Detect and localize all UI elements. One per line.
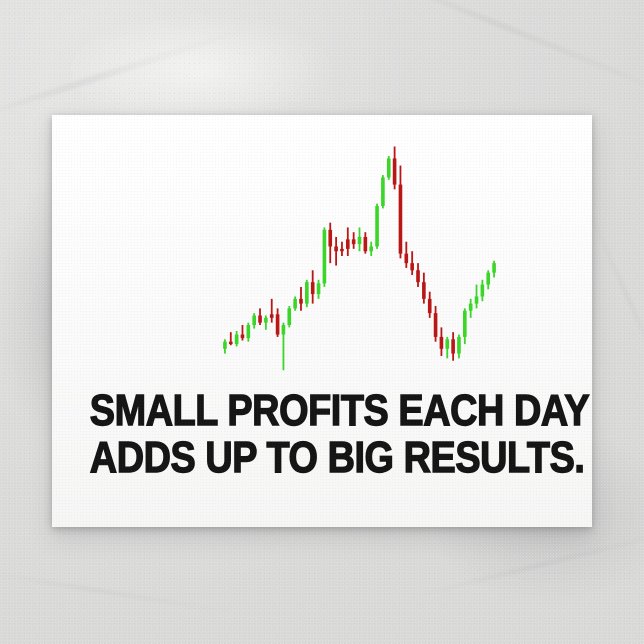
candle-body [422,282,426,299]
candle-body [229,342,233,344]
candle-body [434,313,438,337]
candle-body [323,230,327,284]
candle-body [328,230,332,247]
candle-body [258,316,262,323]
candle-body [416,270,420,282]
candle-body [241,335,245,339]
candle-body [235,335,239,345]
candle-body [311,282,315,294]
candle-wick [242,325,244,340]
candle-body [252,316,256,326]
candle-body [481,285,485,297]
candle-body [475,296,479,303]
candle-body [440,337,444,349]
candle-body [358,237,362,244]
candle-body [352,239,356,244]
candlestick-chart [52,127,592,395]
candle-body [340,249,344,251]
candle-body [317,283,321,294]
candle-body [393,158,397,184]
candle-group [223,147,496,371]
candle-body [223,342,227,349]
candle-body [293,299,297,309]
headline-line-1: SMALL PROFITS EACH DAY [90,387,554,434]
candle-body [264,318,268,323]
candle-body [364,237,368,251]
candle-body [445,339,449,349]
candle-body [404,254,408,264]
candle-body [410,263,414,270]
candle-wick [476,285,478,309]
candle-body [369,246,373,251]
headline-line-2: ADDS UP TO BIG RESULTS. [90,434,554,481]
candle-body [299,299,303,304]
candle-body [463,311,467,337]
candle-body [399,185,403,254]
candle-body [346,239,350,249]
candle-body [334,246,338,251]
candle-body [375,206,379,246]
candle-body [287,308,291,325]
candle-body [282,325,286,335]
candle-body [469,304,473,311]
postcard[interactable]: SMALL PROFITS EACH DAY ADDS UP TO BIG RE… [52,115,592,527]
candle-body [492,263,496,273]
candle-body [276,314,280,334]
candle-body [387,158,391,177]
candle-body [305,282,309,303]
candle-wick [271,299,273,323]
candle-wick [411,251,413,275]
candle-body [457,337,461,354]
candlestick-chart-svg [52,127,592,395]
screenshot-stage: SMALL PROFITS EACH DAY ADDS UP TO BIG RE… [0,0,644,644]
candle-wick [265,316,267,330]
candle-body [428,299,432,313]
candle-body [451,339,455,353]
candle-body [247,325,251,338]
candle-body [270,314,274,318]
headline-block: SMALL PROFITS EACH DAY ADDS UP TO BIG RE… [52,387,592,481]
candle-body [486,273,490,285]
candle-body [381,177,385,206]
